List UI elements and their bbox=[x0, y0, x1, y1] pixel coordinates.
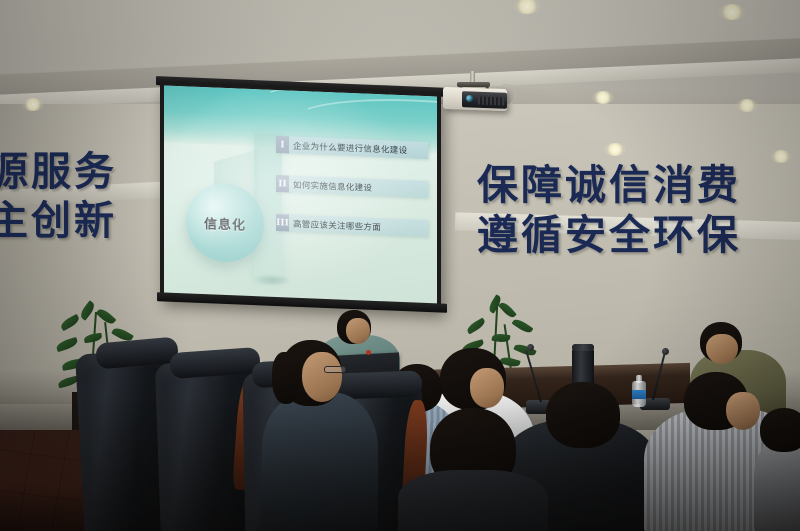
attendee-torso bbox=[754, 440, 800, 531]
projector-lens bbox=[466, 95, 473, 102]
wall-slogan-right: 保障诚信消费 遵循安全环保 bbox=[477, 160, 741, 260]
agenda-label: 高管应该关注哪些方面 bbox=[289, 215, 428, 238]
wall-slogan-left: 源服务 主创新 bbox=[0, 148, 117, 246]
attendee-face bbox=[302, 352, 342, 402]
laptop-indicator-light bbox=[366, 350, 371, 355]
conference-microphone-head bbox=[527, 344, 534, 351]
presenter-face bbox=[346, 318, 370, 344]
attendee-hair bbox=[760, 408, 800, 452]
wall-slogan-left-line1: 源服务 bbox=[0, 148, 117, 197]
ceiling-downlight bbox=[736, 99, 758, 112]
wall-slogan-left-line2: 主创新 bbox=[0, 197, 117, 246]
wall-slogan-right-line2: 遵循安全环保 bbox=[477, 210, 741, 260]
attendee-face bbox=[470, 368, 504, 408]
agenda-numeral: I bbox=[276, 136, 289, 154]
attendee-ponytail bbox=[272, 352, 300, 404]
ceiling-downlight bbox=[22, 98, 44, 111]
conference-microphone-head bbox=[662, 348, 669, 355]
ceiling-downlight bbox=[604, 143, 626, 156]
attendee-hair bbox=[546, 382, 620, 448]
agenda-item: II 如何实施信息化建设 bbox=[276, 175, 428, 198]
conference-room-photo: 源服务 主创新 保障诚信消费 遵循安全环保 信息化 bbox=[0, 0, 800, 531]
sphere-label: 信息化 bbox=[204, 213, 246, 234]
projection-screen[interactable]: 信息化 I 企业为什么要进行信息化建设 II 如何实施信息化建设 III 高管应… bbox=[160, 82, 441, 311]
attendee-torso bbox=[398, 470, 548, 531]
slide-agenda-list: I 企业为什么要进行信息化建设 II 如何实施信息化建设 III 高管应该关注哪… bbox=[276, 136, 428, 259]
attendee-torso bbox=[262, 392, 378, 531]
thermos-lid bbox=[572, 344, 594, 351]
agenda-label: 如何实施信息化建设 bbox=[289, 176, 428, 199]
attendee-face bbox=[706, 334, 738, 364]
door-shadow bbox=[252, 273, 292, 287]
bottle-label bbox=[632, 390, 646, 399]
agenda-item: III 高管应该关注哪些方面 bbox=[276, 214, 428, 237]
ceiling-downlight bbox=[770, 150, 792, 163]
ceiling-downlight bbox=[718, 4, 746, 20]
wall-slogan-right-line1: 保障诚信消费 bbox=[477, 160, 741, 210]
ceiling-downlight bbox=[592, 91, 614, 104]
attendee-face bbox=[726, 392, 760, 430]
slide-surface: 信息化 I 企业为什么要进行信息化建设 II 如何实施信息化建设 III 高管应… bbox=[164, 86, 437, 309]
agenda-numeral: II bbox=[276, 175, 289, 193]
water-bottle[interactable] bbox=[632, 375, 646, 405]
agenda-numeral: III bbox=[276, 214, 289, 232]
eyeglasses bbox=[324, 366, 346, 373]
